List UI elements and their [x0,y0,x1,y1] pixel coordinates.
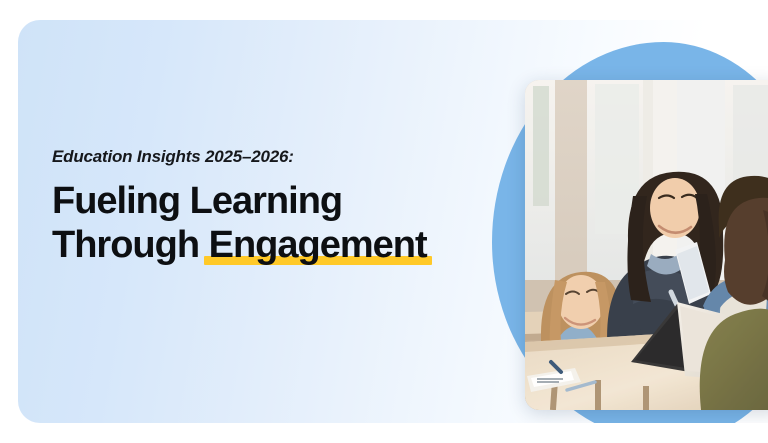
highlighted-word-engagement: Engagement [209,223,427,267]
headline-line-1: Fueling Learning [52,179,472,223]
eyebrow-text: Education Insights 2025–2026: [52,148,472,165]
headline-line-2-prefix: Through [52,224,209,266]
headline-text-block: Education Insights 2025–2026: Fueling Le… [52,148,472,267]
education-insights-banner: Education Insights 2025–2026: Fueling Le… [0,0,768,443]
headline-line-2: Through Engagement [52,223,472,267]
classroom-collaboration-photo [525,80,768,410]
page-title: Fueling Learning Through Engagement [52,179,472,267]
